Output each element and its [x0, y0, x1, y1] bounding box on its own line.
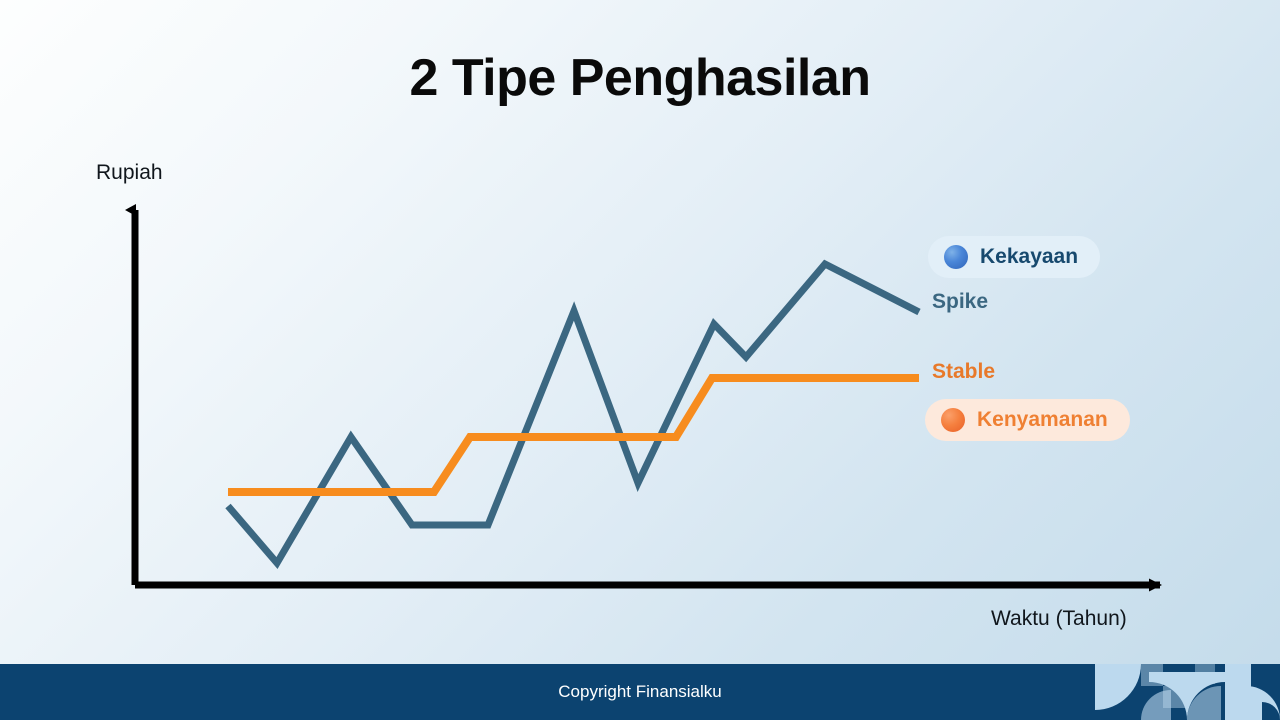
- series-label-spike: Spike: [932, 290, 988, 314]
- legend-badge-kenyamanan-label: Kenyamanan: [977, 408, 1108, 432]
- series-label-stable: Stable: [932, 360, 995, 384]
- footer-bar: Copyright Finansialku: [0, 664, 1280, 720]
- legend-badge-kekayaan[interactable]: Kekayaan: [928, 236, 1100, 278]
- income-types-line-chart: Rupiah Waktu (Tahun) Spike Stable Kekaya…: [0, 0, 1280, 720]
- x-axis-label: Waktu (Tahun): [991, 607, 1127, 631]
- series-line-spike: [228, 264, 919, 563]
- legend-badge-kekayaan-label: Kekayaan: [980, 245, 1078, 269]
- blue-sphere-icon: [944, 245, 968, 269]
- footer-copyright-text: Copyright Finansialku: [0, 664, 1280, 720]
- chart-series-group: [228, 264, 919, 563]
- legend-badge-kenyamanan[interactable]: Kenyamanan: [925, 399, 1130, 441]
- y-axis-label: Rupiah: [96, 161, 163, 185]
- orange-sphere-icon: [941, 408, 965, 432]
